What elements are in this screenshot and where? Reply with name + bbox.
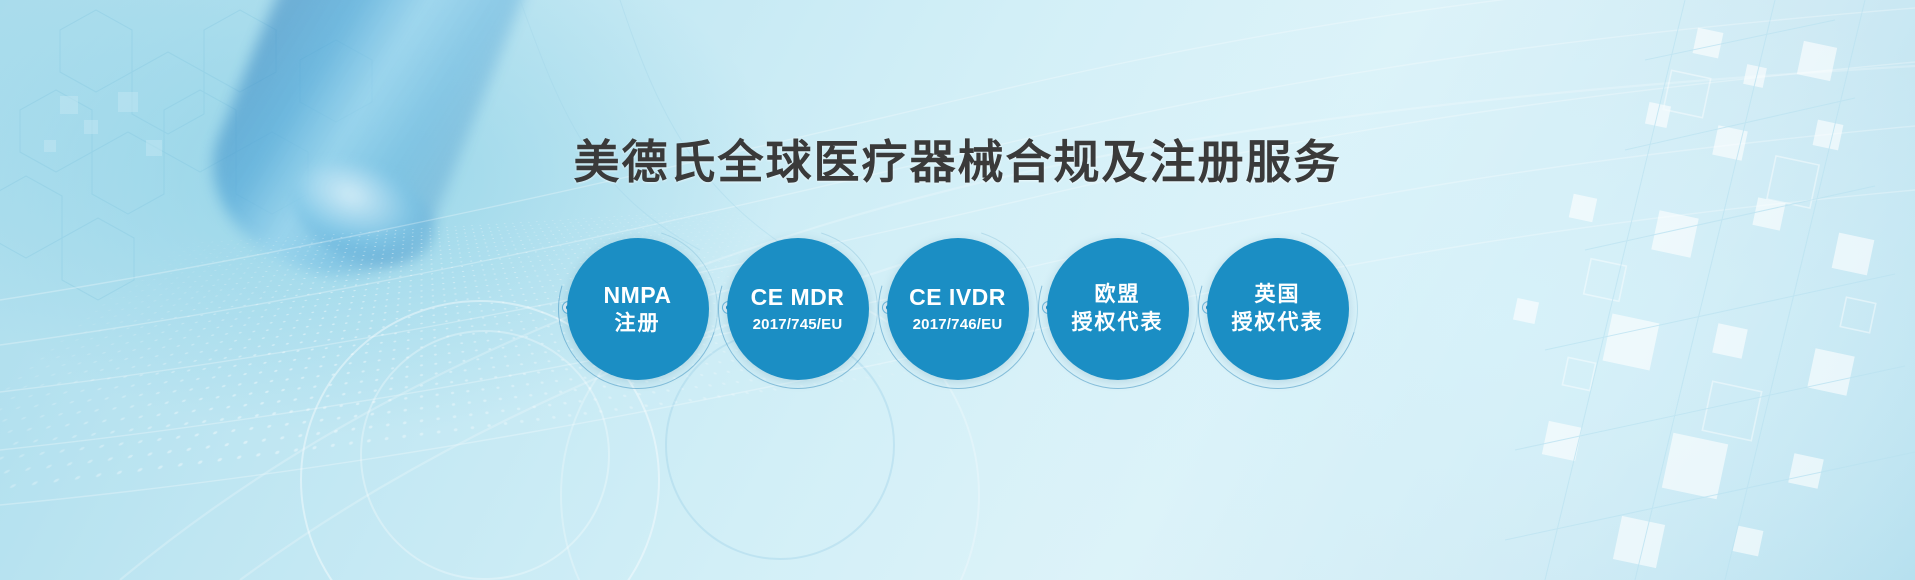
badge-uk-authorized-representative[interactable]: 英国 授权代表 [1207, 238, 1349, 380]
page-title: 美德氏全球医疗器械合规及注册服务 [0, 126, 1915, 192]
badge-title: CE IVDR [909, 284, 1006, 311]
badge-title: 英国 [1255, 283, 1301, 308]
badge-circle[interactable]: CE MDR 2017/745/EU [727, 238, 869, 380]
hero-banner: 美德氏全球医疗器械合规及注册服务 NMPA 注册 CE MDR 2017/745… [0, 0, 1915, 580]
badge-subtitle: 授权代表 [1232, 311, 1324, 336]
badge-title: 欧盟 [1095, 283, 1141, 308]
badge-circle[interactable]: NMPA 注册 [567, 238, 709, 380]
badge-eu-authorized-representative[interactable]: 欧盟 授权代表 [1047, 238, 1189, 380]
badge-title: NMPA [603, 282, 671, 309]
badge-subtitle: 2017/745/EU [753, 316, 843, 334]
badge-subtitle: 注册 [615, 312, 661, 337]
badge-subtitle: 授权代表 [1072, 311, 1164, 336]
badge-ce-ivdr[interactable]: CE IVDR 2017/746/EU [887, 238, 1029, 380]
certification-badge-row: NMPA 注册 CE MDR 2017/745/EU CE IVDR 2017/… [0, 238, 1915, 380]
badge-circle[interactable]: 欧盟 授权代表 [1047, 238, 1189, 380]
badge-ce-mdr[interactable]: CE MDR 2017/745/EU [727, 238, 869, 380]
badge-title: CE MDR [751, 284, 845, 311]
badge-subtitle: 2017/746/EU [913, 316, 1003, 334]
badge-circle[interactable]: 英国 授权代表 [1207, 238, 1349, 380]
badge-nmpa[interactable]: NMPA 注册 [567, 238, 709, 380]
badge-circle[interactable]: CE IVDR 2017/746/EU [887, 238, 1029, 380]
